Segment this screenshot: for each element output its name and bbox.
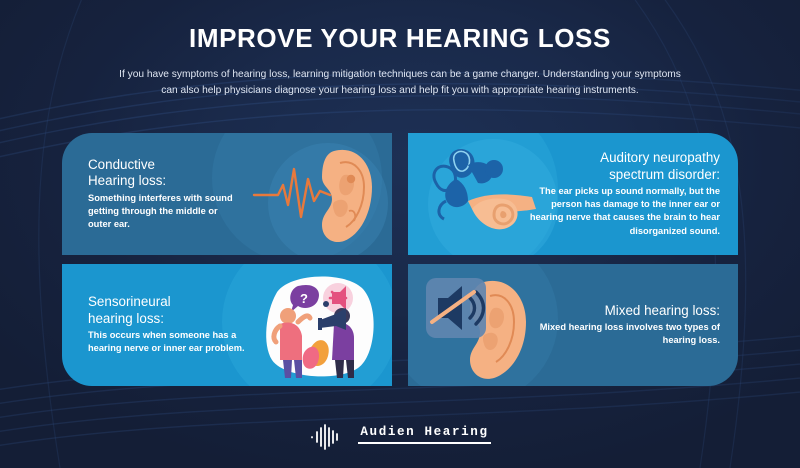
inner-ear-anatomy-icon: [416, 139, 544, 255]
people-communication-icon: ?: [258, 268, 384, 386]
card-heading: Auditory neuropathy spectrum disorder:: [528, 150, 720, 183]
card-mixed-hearing-loss[interactable]: Mixed hearing loss: Mixed hearing loss i…: [408, 264, 738, 386]
hearing-loss-card-grid: Conductive Hearing loss: Something inter…: [62, 133, 738, 386]
card-heading: Conductive Hearing loss:: [88, 157, 238, 190]
svg-text:?: ?: [300, 291, 308, 306]
brand-underline: [358, 442, 490, 444]
footer: Audien Hearing: [0, 424, 800, 450]
header: IMPROVE YOUR HEARING LOSS If you have sy…: [0, 24, 800, 100]
card-text-block: Conductive Hearing loss: Something inter…: [88, 157, 238, 231]
infographic-page: IMPROVE YOUR HEARING LOSS If you have sy…: [0, 0, 800, 468]
ear-with-soundwave-icon: [252, 139, 382, 255]
brand-name: Audien Hearing: [358, 425, 490, 442]
card-heading: Sensorineural hearing loss:: [88, 294, 248, 327]
card-body: The ear picks up sound normally, but the…: [528, 185, 720, 238]
card-sensorineural-hearing-loss[interactable]: Sensorineural hearing loss: This occurs …: [62, 264, 392, 386]
card-body: Mixed hearing loss involves two types of…: [538, 321, 720, 347]
card-auditory-neuropathy-spectrum-disorder[interactable]: Auditory neuropathy spectrum disorder: T…: [408, 133, 738, 255]
page-title: IMPROVE YOUR HEARING LOSS: [0, 24, 800, 53]
brand-logo: Audien Hearing: [358, 425, 490, 450]
card-text-block: Mixed hearing loss: Mixed hearing loss i…: [538, 303, 720, 348]
sound-wave-icon: [309, 424, 351, 450]
card-body: This occurs when someone has a hearing n…: [88, 329, 248, 355]
card-conductive-hearing-loss[interactable]: Conductive Hearing loss: Something inter…: [62, 133, 392, 255]
card-heading: Mixed hearing loss:: [538, 303, 720, 319]
card-text-block: Sensorineural hearing loss: This occurs …: [88, 294, 248, 355]
page-subtitle: If you have symptoms of hearing loss, le…: [115, 67, 685, 100]
card-body: Something interferes with sound getting …: [88, 192, 238, 232]
card-text-block: Auditory neuropathy spectrum disorder: T…: [528, 150, 720, 237]
muted-speaker-with-ear-icon: [418, 268, 544, 386]
